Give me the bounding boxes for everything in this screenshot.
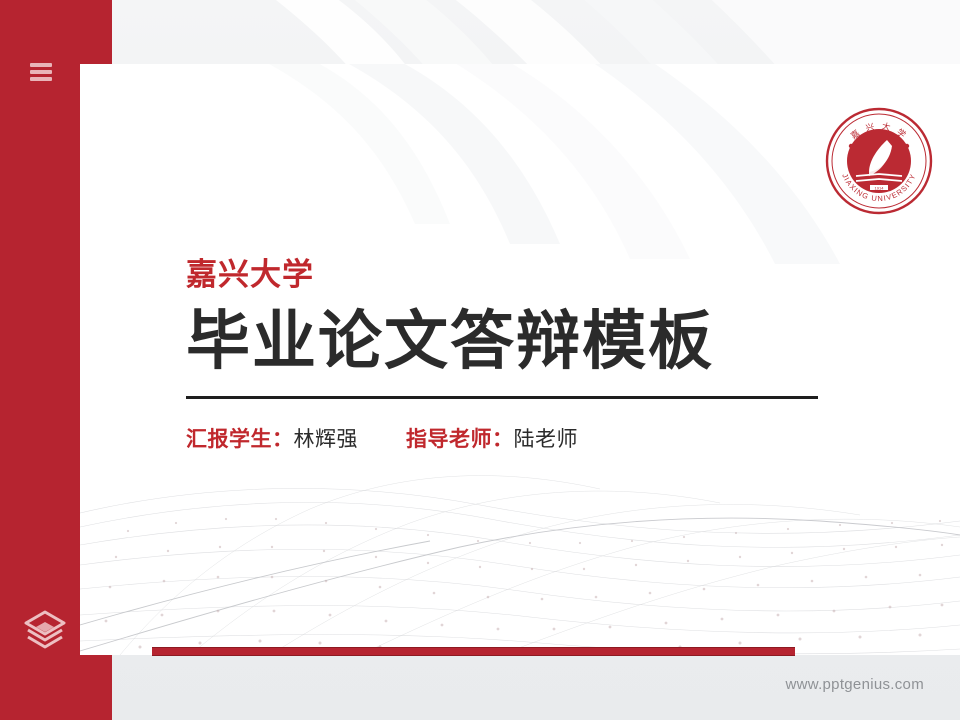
hamburger-bar-1 [30,63,52,67]
dotted-wave-mesh [80,465,960,655]
presentation-slide: 1914 嘉 兴 大 学 JIAXING UNIVERSITY 嘉兴大学 毕业论… [0,0,960,720]
credit-student: 汇报学生： 林辉强 [186,423,358,453]
student-name: 林辉强 [294,423,359,453]
crest-year: 1914 [875,185,885,190]
title-divider [186,396,818,399]
credits-row: 汇报学生： 林辉强 指导老师： 陆老师 [186,423,826,453]
school-name: 嘉兴大学 [186,258,826,292]
footer-url: www.pptgenius.com [0,676,924,693]
hamburger-bar-3 [30,77,52,81]
advisor-label: 指导老师： [406,423,514,453]
page-title: 毕业论文答辩模板 [186,306,826,378]
advisor-name: 陆老师 [514,423,579,453]
university-crest-logo: 1914 嘉 兴 大 学 JIAXING UNIVERSITY [824,106,934,216]
hamburger-bar-2 [30,70,52,74]
layers-icon[interactable] [20,604,70,654]
title-block: 嘉兴大学 毕业论文答辩模板 汇报学生： 林辉强 指导老师： 陆老师 [186,258,826,453]
hamburger-icon[interactable] [30,61,52,83]
credit-advisor: 指导老师： 陆老师 [406,423,578,453]
student-label: 汇报学生： [186,423,294,453]
bottom-accent-bar [152,647,795,656]
